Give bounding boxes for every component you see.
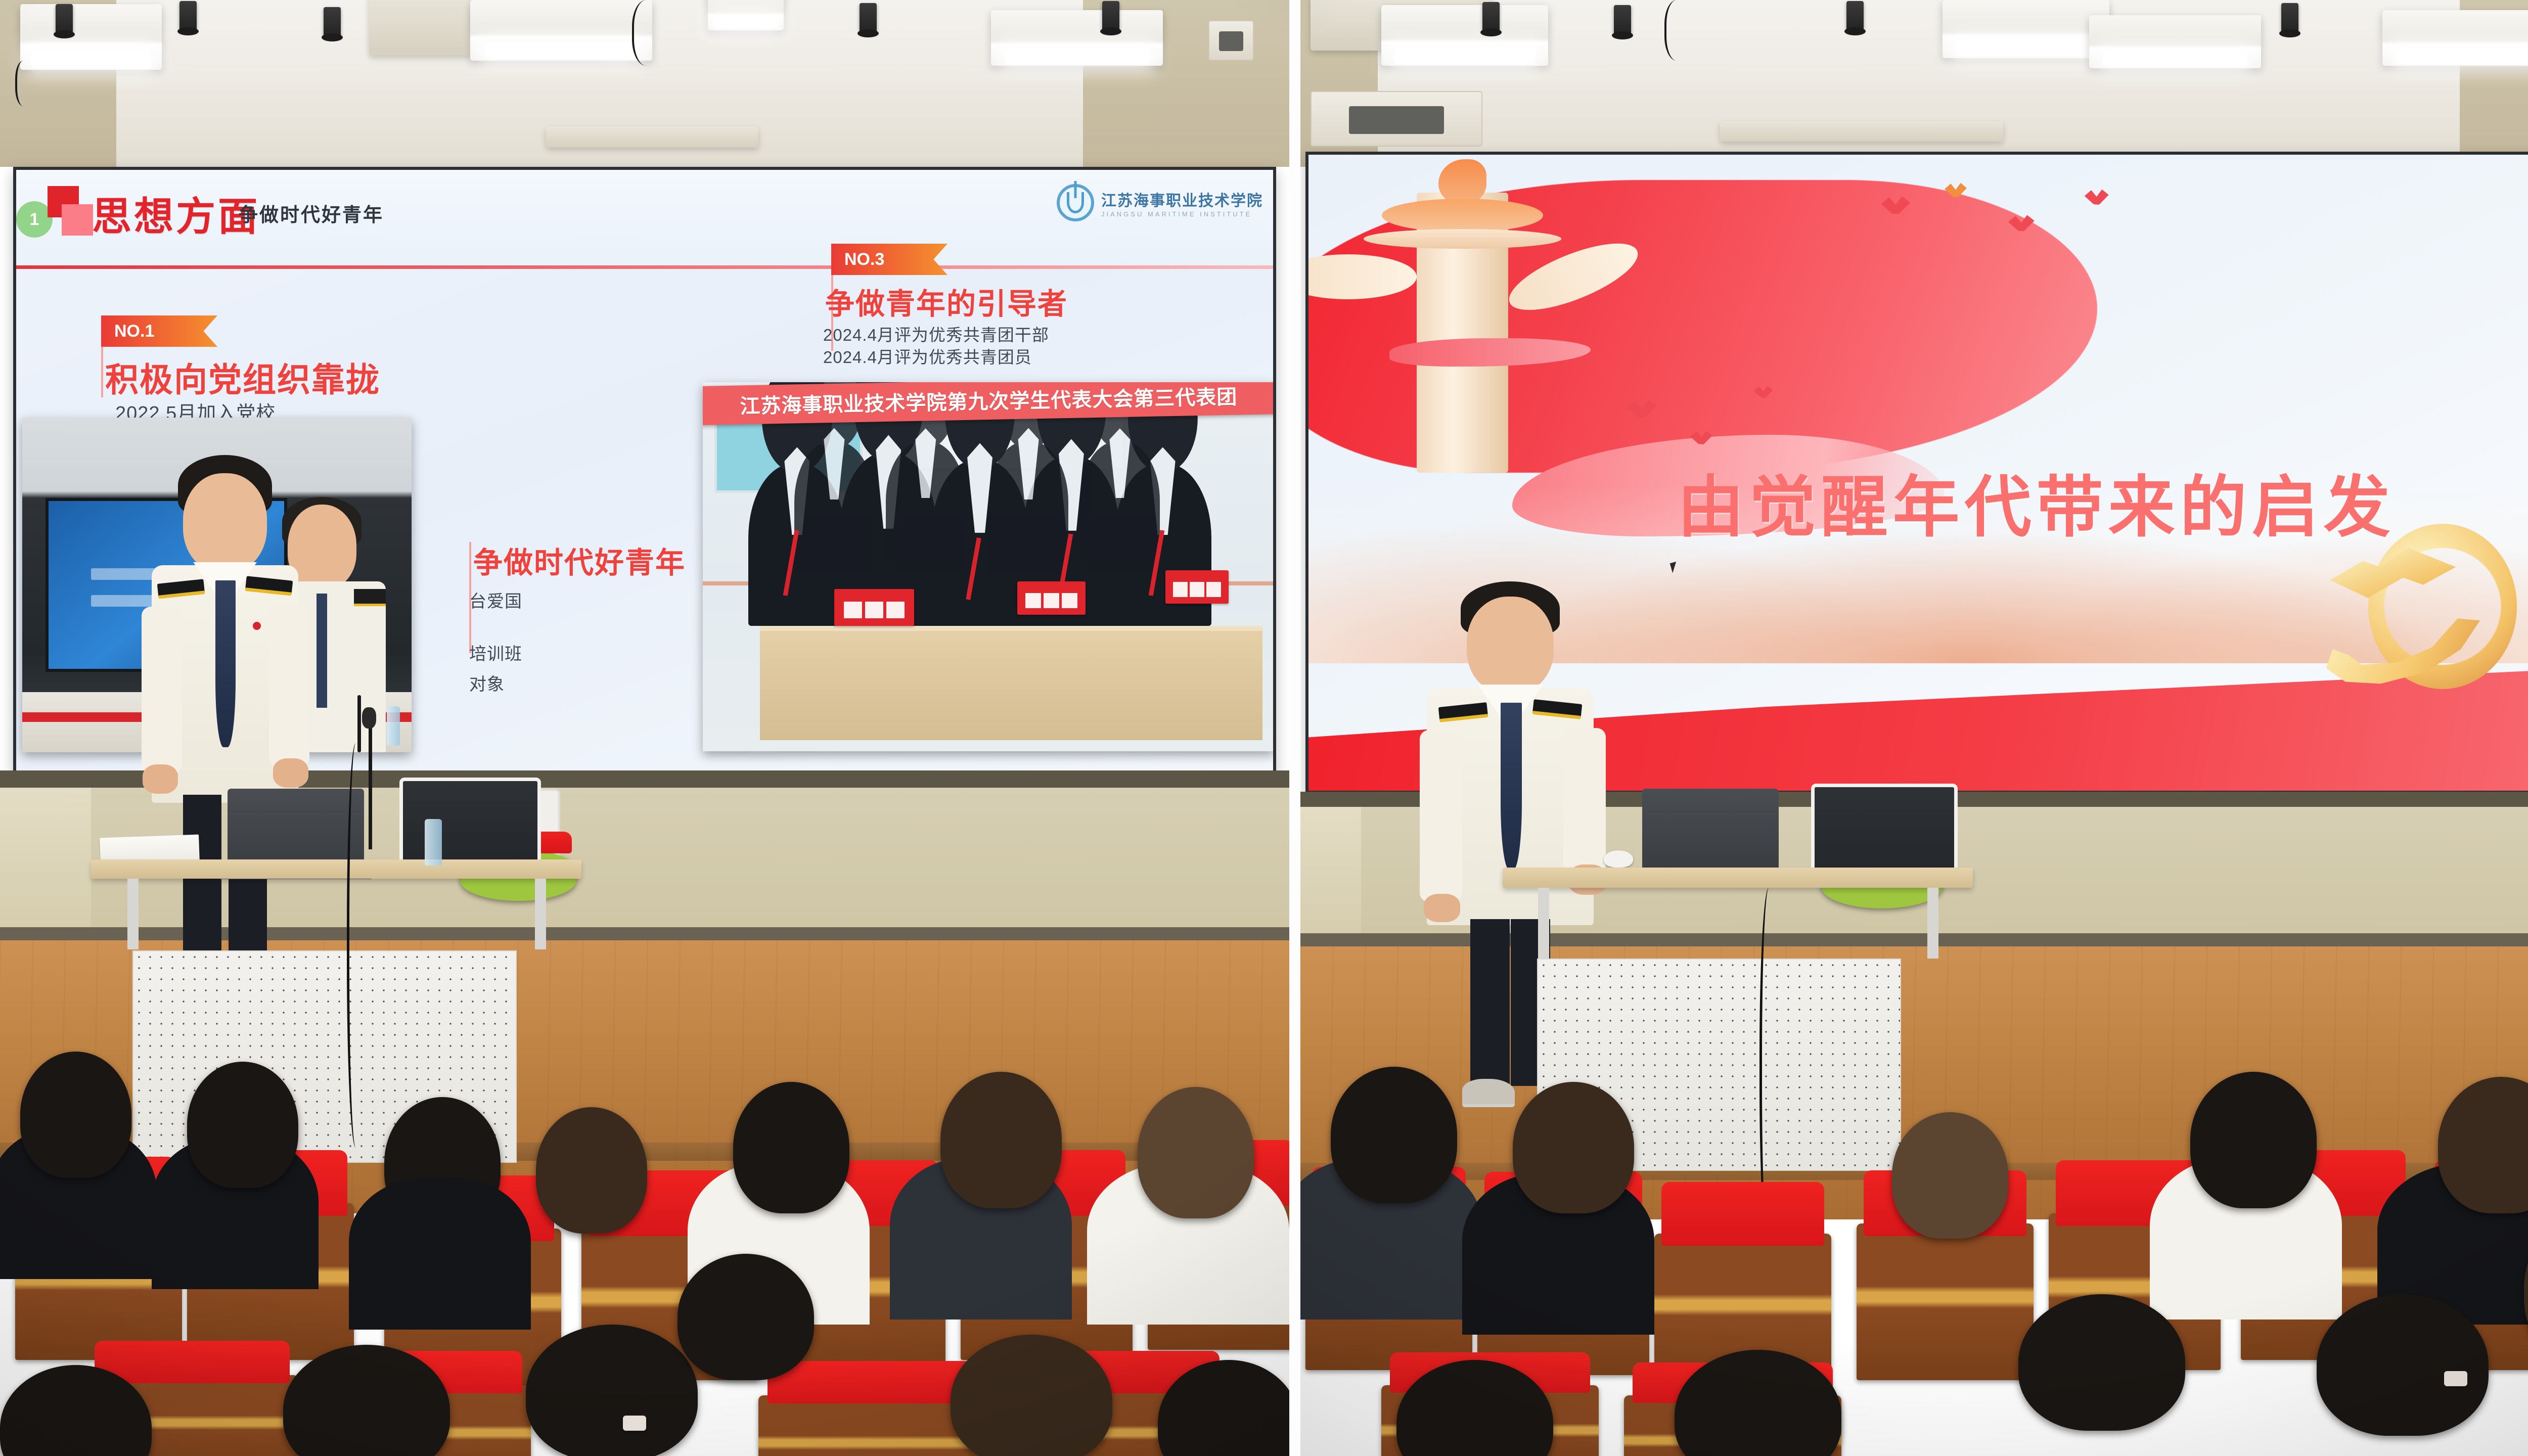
- ceiling-spotlight-2: [179, 1, 197, 31]
- desk-water-bottle: [425, 819, 442, 866]
- column-capital: [1382, 199, 1543, 232]
- ceiling-spotlight-3: [324, 7, 341, 37]
- audience-shoulders: [349, 1178, 531, 1330]
- desk-monitor: [399, 778, 541, 869]
- microphone-stem: [369, 718, 372, 849]
- laptop-lid: [228, 789, 364, 870]
- lectern-desk-leg-left: [127, 879, 139, 949]
- huabiao-column-icon: [1417, 193, 1508, 473]
- congress-nameplate: [1017, 581, 1086, 615]
- audience-head: [1513, 1082, 1634, 1213]
- presenter-arm-right: [269, 605, 309, 766]
- presenter-necktie: [1501, 703, 1522, 870]
- decor-square-pink: [62, 204, 93, 236]
- panel-divider: [1289, 0, 1300, 1456]
- audience-head: [2317, 1294, 2489, 1436]
- ceiling-speaker: [1311, 91, 1482, 147]
- torch-icon: [1438, 159, 1486, 204]
- presenter-arm-right: [1563, 728, 1606, 880]
- congress-nameplate: [1165, 570, 1228, 604]
- section-3-line-1: 2024.4月评为优秀共青团干部: [823, 322, 1049, 346]
- ceiling-light-3: [2089, 15, 2261, 68]
- audience-hair-clip: [623, 1416, 646, 1431]
- congress-table: [760, 626, 1262, 740]
- slide-header-title: 思想方面: [92, 185, 260, 242]
- audience-seat: [1857, 1223, 2034, 1380]
- ceiling-light-4: [2382, 10, 2528, 66]
- desk-laptop: [228, 789, 364, 870]
- presenter-head: [183, 473, 267, 572]
- section-3-tag: NO.3: [831, 244, 947, 275]
- presenter-hand-left: [1424, 894, 1460, 922]
- party-badge-pin: [253, 622, 261, 630]
- ceiling-beam: [1720, 121, 2003, 142]
- ceiling-spotlight-5: [1102, 1, 1119, 31]
- ceiling-spotlight-4: [860, 3, 877, 33]
- left-photo-panel: 1 思想方面 争做时代好青年 江苏海事职业技术学院 JIANGSU MARITI…: [0, 0, 1289, 1456]
- institution-name-en: JIANGSU MARITIME INSTITUTE: [1101, 210, 1263, 218]
- presenter-hand-left: [143, 764, 178, 794]
- lectern-desk-leg-right: [1927, 888, 1938, 959]
- monitor-screen: [1811, 784, 1958, 880]
- audience-head: [733, 1082, 849, 1213]
- audience-head: [526, 1325, 698, 1456]
- ceiling-spotlight-1: [1482, 2, 1500, 32]
- microphone-cable: [347, 743, 366, 1148]
- audience-hair-clip: [2444, 1371, 2467, 1386]
- ceiling-beam: [546, 126, 758, 148]
- presenter-head: [1467, 597, 1554, 694]
- right-photo-panel: 由觉醒年代带来的启发: [1300, 0, 2528, 1456]
- desk-monitor: [1811, 784, 1958, 880]
- audience-head: [2190, 1072, 2317, 1208]
- hammer-sickle-icon: [2326, 524, 2517, 689]
- stage-wall-panel: [1300, 807, 1361, 933]
- slide-header: 1 思想方面 争做时代好青年 江苏海事职业技术学院 JIANGSU MARITI…: [16, 170, 1273, 269]
- section-1-tag: NO.1: [101, 315, 217, 347]
- necktie: [317, 594, 327, 707]
- microphone-stem: [1810, 718, 1813, 819]
- section-1-title: 积极向党组织靠拢: [105, 353, 380, 401]
- audience-seat: [758, 1395, 981, 1456]
- presenter-hand-right: [273, 758, 308, 788]
- section-3-title: 争做青年的引导者: [825, 280, 1068, 323]
- inset-photo-student-congress: 江苏海事职业技术学院第九次学生代表大会第三代表团: [703, 382, 1274, 751]
- dual-photo-composite: 1 思想方面 争做时代好青年 江苏海事职业技术学院 JIANGSU MARITI…: [0, 0, 2528, 1456]
- presenter-leg-left: [1470, 919, 1510, 1086]
- microphone-capsule: [1803, 710, 1817, 726]
- audience-head: [20, 1052, 131, 1178]
- ceiling-cable: [1664, 0, 1695, 61]
- presenter-arm-left: [142, 607, 182, 773]
- ceiling-light-1: [20, 4, 162, 70]
- audience-head: [187, 1062, 298, 1188]
- congress-nameplate: [834, 589, 914, 626]
- dove-icon: [2085, 187, 2109, 205]
- ceiling-spotlight-1: [56, 4, 73, 34]
- section-2-line-1: 台爱国: [469, 587, 522, 612]
- ceiling-light-3: [991, 10, 1163, 66]
- audience-head: [1331, 1067, 1457, 1203]
- ceiling-light-1: [1381, 5, 1548, 66]
- column-disc: [1364, 229, 1561, 249]
- ceiling-cable-2: [15, 61, 35, 106]
- audience-head: [678, 1254, 814, 1380]
- header-divider: [16, 265, 1273, 269]
- audience-head: [536, 1107, 647, 1234]
- stage-wall-panel: [0, 788, 91, 927]
- ceiling-cable: [632, 0, 667, 66]
- ceiling-spotlight-2: [1614, 5, 1631, 35]
- desk-laptop: [1642, 789, 1779, 870]
- audience-head: [2018, 1294, 2185, 1431]
- audience-head: [1892, 1112, 2008, 1239]
- presenter-necktie: [215, 580, 236, 747]
- lectern-desk-leg-right: [535, 879, 546, 949]
- ceiling-spotlight-4: [2281, 3, 2298, 33]
- ceiling-light-2: [1943, 0, 2109, 58]
- microphone-capsule: [362, 707, 377, 729]
- presenter-shoe-left: [1462, 1079, 1515, 1107]
- epaulette-right: [354, 589, 386, 606]
- institution-logo: 江苏海事职业技术学院 JIANGSU MARITIME INSTITUTE: [1057, 184, 1263, 221]
- congress-delegate-back: [988, 441, 1068, 574]
- section-3-line-2: 2024.4月评为优秀共青团员: [823, 344, 1032, 368]
- section-2-line-2: 培训班: [469, 640, 522, 665]
- laptop-lid: [1642, 789, 1779, 870]
- lectern-desk-top: [1503, 868, 1973, 888]
- ceiling-light-4: [708, 0, 784, 30]
- anchor-icon: [1057, 184, 1094, 221]
- lectern-desk-top: [91, 859, 581, 879]
- congress-delegate-back: [886, 441, 966, 571]
- presenter-arm-left: [1420, 730, 1462, 902]
- audience-head: [940, 1072, 1062, 1208]
- ceiling-light-2: [470, 0, 652, 61]
- desk-mouse[interactable]: [1604, 850, 1633, 868]
- slide-main-title: 由觉醒年代带来的启发: [1678, 453, 2396, 550]
- section-2-line-3: 对象: [469, 670, 505, 695]
- congress-delegate-back: [794, 441, 874, 574]
- ceiling-spotlight-3: [1846, 1, 1864, 31]
- ceiling-speaker: [1208, 20, 1254, 61]
- monitor-screen: [399, 778, 541, 869]
- congress-delegate-back: [1080, 441, 1160, 571]
- lectern-desk-leg-left: [1538, 888, 1549, 959]
- inset-water-bottle: [387, 706, 400, 746]
- audience-head: [1138, 1087, 1254, 1218]
- section-2-title: 争做时代好青年: [473, 539, 686, 581]
- institution-name-cn: 江苏海事职业技术学院: [1101, 188, 1263, 210]
- slide-header-subtitle: 争做时代好青年: [239, 199, 384, 227]
